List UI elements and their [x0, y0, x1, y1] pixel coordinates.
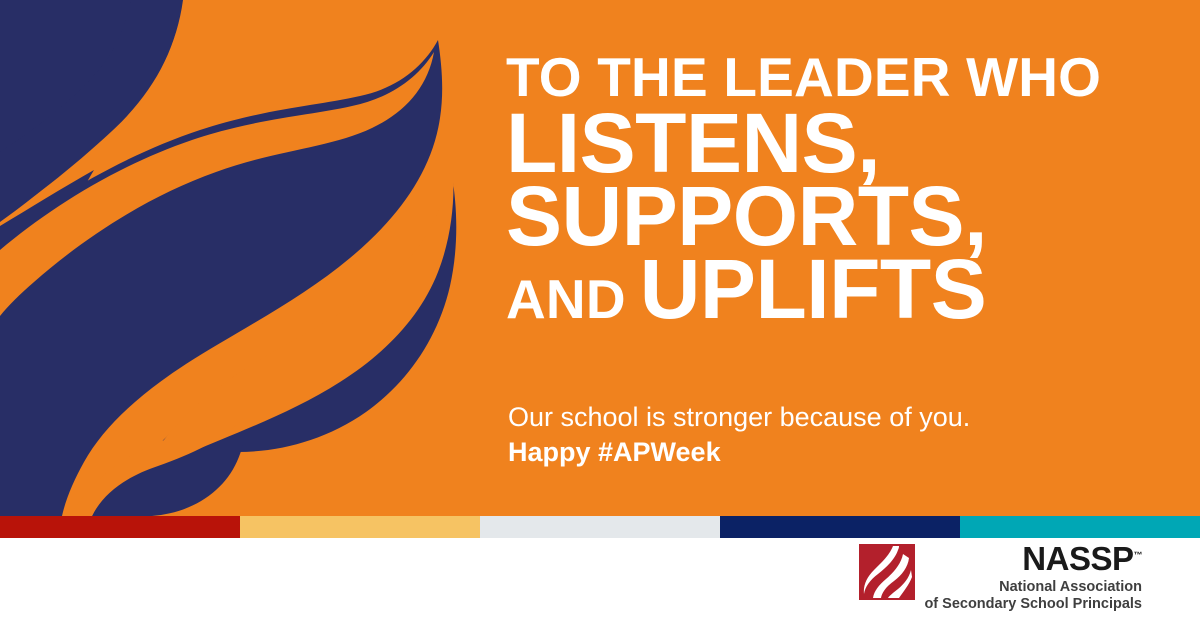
- flame-graphic: [0, 0, 460, 516]
- color-swatch-teal: [960, 516, 1200, 538]
- headline-block: TO THE LEADER WHO LISTENS, SUPPORTS, AND…: [506, 52, 1126, 329]
- nassp-subtitle-line-1: National Association: [999, 579, 1142, 596]
- poster-background: TO THE LEADER WHO LISTENS, SUPPORTS, AND…: [0, 0, 1200, 516]
- poster-canvas: TO THE LEADER WHO LISTENS, SUPPORTS, AND…: [0, 0, 1200, 630]
- color-swatch-gold: [240, 516, 480, 538]
- headline-line-4-and: AND: [506, 274, 626, 326]
- nassp-subtitle-line-2: of Secondary School Principals: [924, 596, 1142, 613]
- headline-line-4-uplifts: UPLIFTS: [640, 250, 987, 329]
- color-swatch-light-grey: [480, 516, 720, 538]
- footer-bar: NASSP™ National Association of Secondary…: [0, 538, 1200, 630]
- subcopy-block: Our school is stronger because of you. H…: [508, 400, 1128, 469]
- nassp-logo-text: NASSP™ National Association of Secondary…: [924, 542, 1142, 613]
- color-swatch-navy: [720, 516, 960, 538]
- color-swatch-red: [0, 516, 240, 538]
- nassp-flame-mark: [859, 544, 915, 600]
- subcopy-line-2: Happy #APWeek: [508, 435, 1128, 470]
- trademark-icon: ™: [1134, 550, 1143, 560]
- nassp-wordmark: NASSP™: [1022, 542, 1142, 575]
- nassp-logo: NASSP™ National Association of Secondary…: [859, 542, 1142, 613]
- subcopy-line-1: Our school is stronger because of you.: [508, 400, 1128, 435]
- brand-color-bar: [0, 516, 1200, 538]
- nassp-wordmark-text: NASSP: [1022, 540, 1133, 577]
